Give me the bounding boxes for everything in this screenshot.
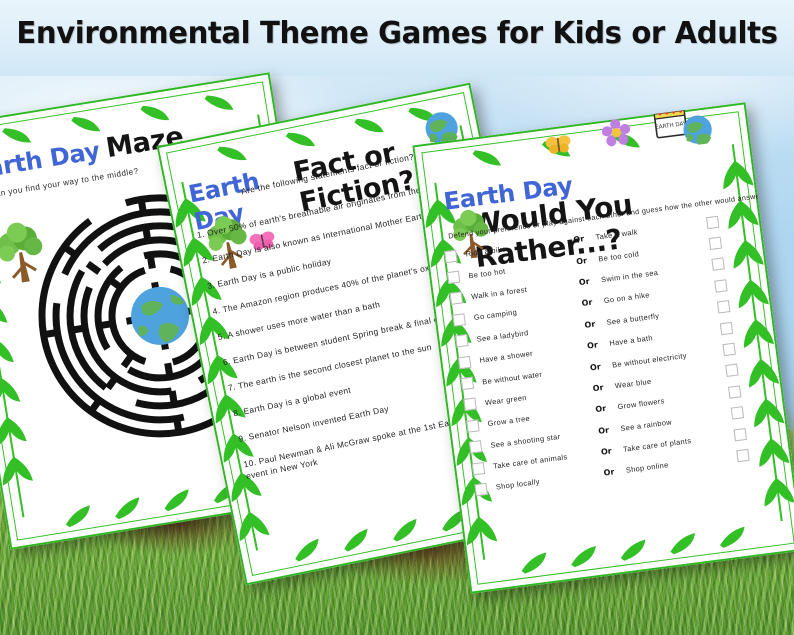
globe-icon xyxy=(681,113,715,147)
checkbox-right[interactable] xyxy=(731,406,744,419)
flower-icon xyxy=(601,117,632,148)
or-separator: Or xyxy=(585,361,606,373)
checkbox-left[interactable] xyxy=(469,440,482,453)
checkbox-left[interactable] xyxy=(472,462,485,475)
checkbox-left[interactable] xyxy=(458,356,471,369)
globe-icon xyxy=(127,283,194,350)
poster-stage: Environmental Theme Games for Kids or Ad… xyxy=(0,0,794,635)
checkbox-right[interactable] xyxy=(720,321,733,334)
or-separator: Or xyxy=(568,234,589,246)
checkbox-right[interactable] xyxy=(728,385,741,398)
or-separator: Or xyxy=(588,382,609,394)
or-separator: Or xyxy=(599,467,620,479)
checkbox-left[interactable] xyxy=(461,377,474,390)
checkbox-right[interactable] xyxy=(709,237,722,250)
or-separator: Or xyxy=(593,425,614,437)
checkbox-left[interactable] xyxy=(474,483,487,496)
butterfly-icon xyxy=(544,133,572,156)
card-earth-day-would-you-rather[interactable]: EARTH DAY Earth Day Would You Rather...? xyxy=(412,102,794,594)
would-you-rather-list: Ride a bikeOrTake a walkBe too hotOrBe t… xyxy=(444,207,777,500)
checkbox-left[interactable] xyxy=(455,334,468,347)
checkbox-right[interactable] xyxy=(706,215,719,228)
or-separator: Or xyxy=(571,255,592,267)
checkbox-right[interactable] xyxy=(736,449,749,462)
checkbox-left[interactable] xyxy=(463,398,476,411)
checkbox-right[interactable] xyxy=(711,258,724,271)
checkbox-left[interactable] xyxy=(450,292,463,305)
checkbox-right[interactable] xyxy=(725,364,738,377)
page-title: Environmental Theme Games for Kids or Ad… xyxy=(12,16,782,51)
checkbox-left[interactable] xyxy=(466,419,479,432)
checkbox-left[interactable] xyxy=(447,271,460,284)
or-separator: Or xyxy=(579,319,600,331)
wyr-card-content: EARTH DAY Earth Day Would You Rather...? xyxy=(428,116,789,580)
checkbox-left[interactable] xyxy=(452,313,465,326)
checkbox-right[interactable] xyxy=(714,279,727,292)
or-separator: Or xyxy=(577,297,598,309)
checkbox-left[interactable] xyxy=(444,249,457,262)
or-separator: Or xyxy=(582,340,603,352)
checkbox-right[interactable] xyxy=(722,343,735,356)
or-separator: Or xyxy=(574,276,595,288)
or-separator: Or xyxy=(590,403,611,415)
or-separator: Or xyxy=(596,446,617,458)
checkbox-right[interactable] xyxy=(717,300,730,313)
checkbox-right[interactable] xyxy=(733,428,746,441)
